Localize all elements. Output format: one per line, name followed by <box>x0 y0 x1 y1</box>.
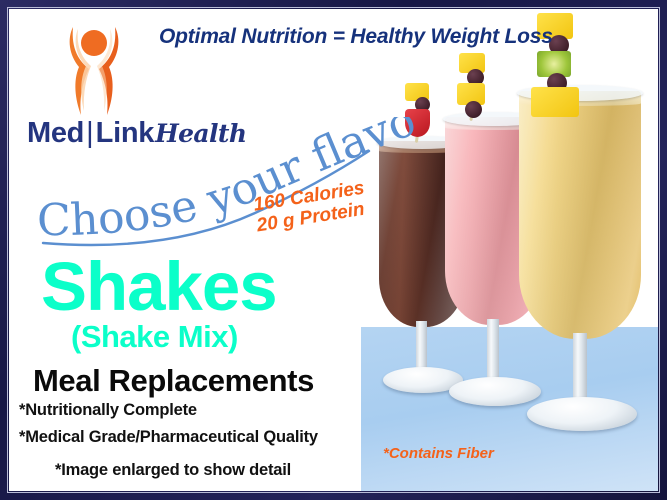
feature-bullet-2: *Medical Grade/Pharmaceutical Quality <box>19 428 318 447</box>
vanilla-shake-liquid <box>519 91 641 339</box>
pineapple-chunk <box>531 87 579 117</box>
product-subtitle: (Shake Mix) <box>71 319 238 355</box>
vanilla-glass-stem <box>573 333 587 407</box>
person-raised-arms-icon <box>61 21 127 117</box>
poster-canvas: Med|LinkHealth Optimal Nutrition = Healt… <box>9 9 658 491</box>
tagline: Optimal Nutrition = Healthy Weight Loss <box>159 25 553 49</box>
product-category: Meal Replacements <box>33 363 314 399</box>
feature-bullet-1: *Nutritionally Complete <box>19 401 197 420</box>
poster-frame: Med|LinkHealth Optimal Nutrition = Healt… <box>0 0 667 500</box>
strawberry-glass-base <box>449 377 541 406</box>
fiber-note: *Contains Fiber <box>383 445 494 462</box>
feature-bullet-3: *Image enlarged to show detail <box>55 461 291 480</box>
vanilla-glass-base <box>527 397 637 431</box>
blackberry-chunk <box>465 101 482 118</box>
curved-headline: Choose your flavor <box>17 117 437 249</box>
product-photo <box>361 9 658 491</box>
page-title: Shakes <box>41 252 277 321</box>
